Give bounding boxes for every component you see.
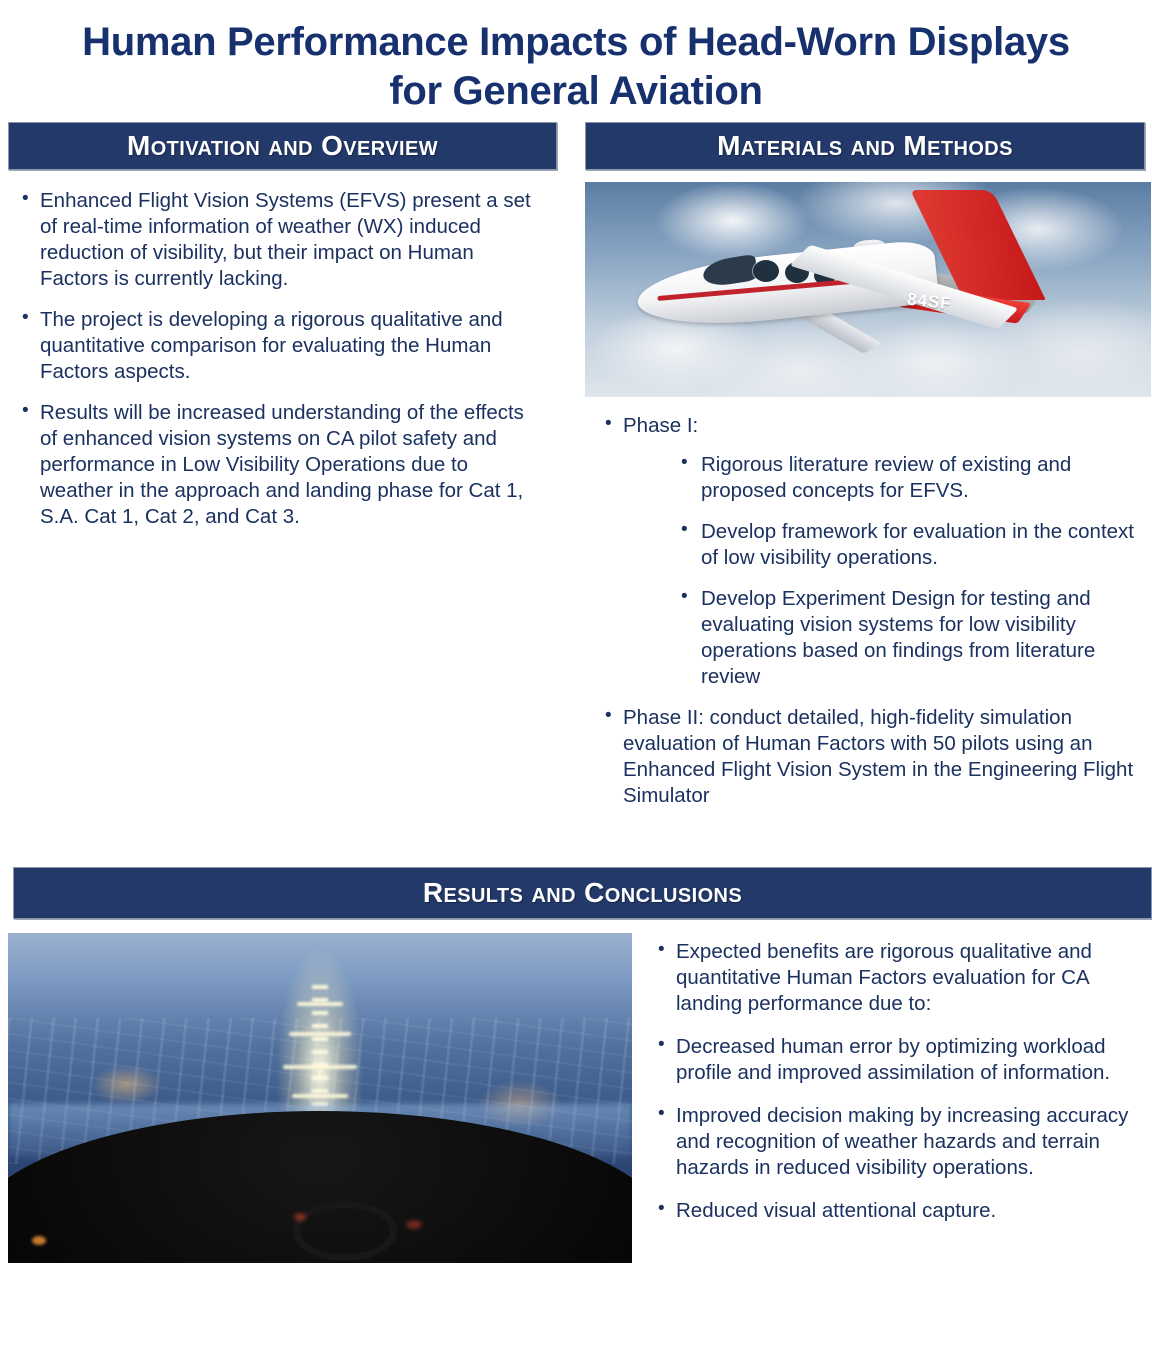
page-title: Human Performance Impacts of Head-Worn D… <box>0 0 1152 122</box>
list-item: The project is developing a rigorous qua… <box>18 307 539 385</box>
results-bullet-list: Expected benefits are rigorous qualitati… <box>654 939 1134 1224</box>
approach-light-crossbar <box>297 1002 343 1006</box>
list-item: Develop framework for evaluation in the … <box>679 519 1137 571</box>
materials-column: Materials and Methods 84SF Phase I: Rig <box>585 122 1145 824</box>
list-item-label: Phase I: <box>623 414 698 437</box>
results-text-column: Expected benefits are rigorous qualitati… <box>632 933 1144 1263</box>
list-item: Phase II: conduct detailed, high-fidelit… <box>601 705 1137 809</box>
motivation-body: Enhanced Flight Vision Systems (EFVS) pr… <box>8 170 557 530</box>
results-section: Results and Conclusions Expected be <box>0 867 1152 1263</box>
materials-heading: Materials and Methods <box>717 130 1013 162</box>
motivation-section-banner: Motivation and Overview <box>8 122 557 170</box>
results-banner-wrap: Results and Conclusions <box>0 867 1152 919</box>
aircraft-cabin-window <box>753 260 779 282</box>
approach-light-crossbar <box>292 1094 348 1098</box>
motivation-heading: Motivation and Overview <box>127 130 438 162</box>
instrument-glow <box>294 1213 306 1221</box>
top-columns-area: Motivation and Overview Enhanced Flight … <box>0 122 1152 867</box>
list-item: Decreased human error by optimizing work… <box>654 1034 1134 1086</box>
motivation-column: Motivation and Overview Enhanced Flight … <box>8 122 557 545</box>
results-body: Expected benefits are rigorous qualitati… <box>0 933 1152 1263</box>
list-item: Improved decision making by increasing a… <box>654 1103 1134 1181</box>
list-item: Enhanced Flight Vision Systems (EFVS) pr… <box>18 188 539 292</box>
results-section-banner: Results and Conclusions <box>13 867 1152 919</box>
instrument-glow <box>32 1236 46 1245</box>
instrument-glow <box>406 1220 422 1229</box>
list-item: Results will be increased understanding … <box>18 400 539 530</box>
list-item: Phase I: Rigorous literature review of e… <box>601 413 1137 690</box>
aircraft-in-clouds-photo: 84SF <box>585 182 1151 397</box>
cockpit-approach-photo <box>8 933 632 1263</box>
list-item: Develop Experiment Design for testing an… <box>679 586 1137 690</box>
results-heading: Results and Conclusions <box>423 877 742 909</box>
list-item: Expected benefits are rigorous qualitati… <box>654 939 1134 1017</box>
control-yoke-silhouette <box>293 1201 397 1261</box>
aircraft-registration-text: 84SF <box>906 289 952 314</box>
list-item: Reduced visual attentional capture. <box>654 1198 1134 1224</box>
approach-light-crossbar <box>289 1032 351 1036</box>
materials-bullet-list: Phase I: Rigorous literature review of e… <box>601 413 1137 809</box>
phase-one-sub-list: Rigorous literature review of existing a… <box>623 452 1137 690</box>
list-item: Rigorous literature review of existing a… <box>679 452 1137 504</box>
approach-light-crossbar <box>283 1065 357 1069</box>
motivation-bullet-list: Enhanced Flight Vision Systems (EFVS) pr… <box>18 188 539 530</box>
results-image-column <box>0 933 632 1263</box>
materials-section-banner: Materials and Methods <box>585 122 1145 170</box>
materials-body: Phase I: Rigorous literature review of e… <box>585 397 1145 809</box>
